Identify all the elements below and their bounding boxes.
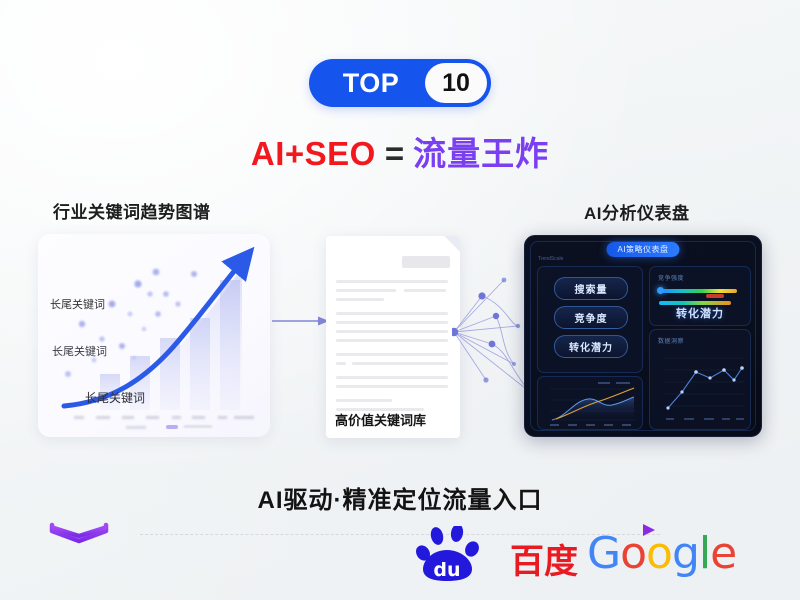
doc-text-line xyxy=(336,312,448,315)
trend-keyword-1: 长尾关键词 xyxy=(50,296,105,312)
headline-left: AI+SEO xyxy=(251,135,376,172)
keyword-trend-chart xyxy=(38,234,270,437)
metrics-panel: 搜索量 竞争度 转化潜力 xyxy=(537,266,643,373)
headline-right: 流量王炸 xyxy=(413,135,549,172)
search-engine-logos: du 百度 Google xyxy=(415,520,755,582)
doc-text-line xyxy=(336,385,448,388)
headline-operator: = xyxy=(385,135,404,172)
doc-text-line xyxy=(336,280,448,283)
chart-legend xyxy=(166,425,212,429)
doc-caption: 高价值关键词库 xyxy=(335,410,426,429)
doc-text-line xyxy=(336,298,384,301)
baidu-wordmark: 百度 xyxy=(510,534,578,583)
baidu-paw-logo: du xyxy=(415,526,507,584)
page-title: AI+SEO=流量王炸 xyxy=(0,127,800,175)
trend-overview-panel xyxy=(537,376,643,430)
trend-keyword-2: 长尾关键词 xyxy=(52,343,107,359)
doc-text-line xyxy=(336,399,392,402)
google-letter-g: g xyxy=(672,528,699,579)
keyword-library-doc: 高价值关键词库 xyxy=(326,236,460,438)
google-letter-e: e xyxy=(710,528,736,579)
doc-text-line xyxy=(336,321,448,324)
infographic-canvas: TOP 10 AI+SEO=流量王炸 行业关键词趋势图谱 AI分析仪表盘 xyxy=(0,0,800,600)
play-cursor-icon xyxy=(639,522,659,538)
doc-text-line xyxy=(336,339,448,342)
google-letter-l: l xyxy=(699,528,710,579)
page-fold-corner xyxy=(444,236,460,252)
threshold-marker xyxy=(706,294,724,298)
doc-bullet xyxy=(336,362,346,365)
doc-text-line xyxy=(336,376,448,379)
metric-pill-search-volume[interactable]: 搜索量 xyxy=(554,277,628,300)
right-section-caption: AI分析仪表盘 xyxy=(584,199,690,224)
doc-text-line xyxy=(404,289,446,292)
doc-header-block xyxy=(402,256,450,268)
badge-label: TOP xyxy=(309,68,425,99)
trend-overview-chart xyxy=(538,377,642,429)
dashboard-title-badge: AI策略仪表盘 xyxy=(606,242,679,257)
competition-intensity-panel: 竞争强度 转化潜力 xyxy=(649,266,751,326)
bar-chart-pedestal-icon xyxy=(45,484,113,546)
footer-tagline: AI驱动·精准定位流量入口 xyxy=(0,480,800,515)
gradient-bar-1 xyxy=(659,289,737,293)
google-wordmark: Google xyxy=(587,528,736,579)
left-section-caption: 行业关键词趋势图谱 xyxy=(53,198,211,223)
google-letter-G: G xyxy=(587,528,620,579)
metric-pill-competition[interactable]: 竞争度 xyxy=(554,306,628,329)
data-insight-chart xyxy=(650,330,750,429)
trend-keyword-3: 长尾关键词 xyxy=(85,389,145,406)
keyword-trend-card: 长尾关键词 长尾关键词 长尾关键词 xyxy=(38,234,270,437)
doc-text-line xyxy=(352,362,448,365)
conversion-overlay-label: 转化潜力 xyxy=(650,305,750,321)
doc-text-line xyxy=(336,289,396,292)
data-insight-panel: 数据洞察 xyxy=(649,329,751,430)
metric-pill-conversion[interactable]: 转化潜力 xyxy=(554,335,628,358)
flow-arrow-icon xyxy=(272,314,330,328)
x-axis-ticks xyxy=(74,416,254,429)
top-rank-badge: TOP 10 xyxy=(309,59,491,107)
doc-text-line xyxy=(336,330,448,333)
bar-start-dot xyxy=(657,287,664,294)
dashboard-brand: TrendScale xyxy=(538,256,563,262)
badge-number: 10 xyxy=(425,63,487,103)
ai-dashboard-panel: AI策略仪表盘 TrendScale 搜索量 竞争度 转化潜力 xyxy=(524,235,762,437)
doc-text-line xyxy=(336,353,448,356)
panel-title: 竞争强度 xyxy=(658,273,684,282)
svg-text:du: du xyxy=(433,559,460,581)
